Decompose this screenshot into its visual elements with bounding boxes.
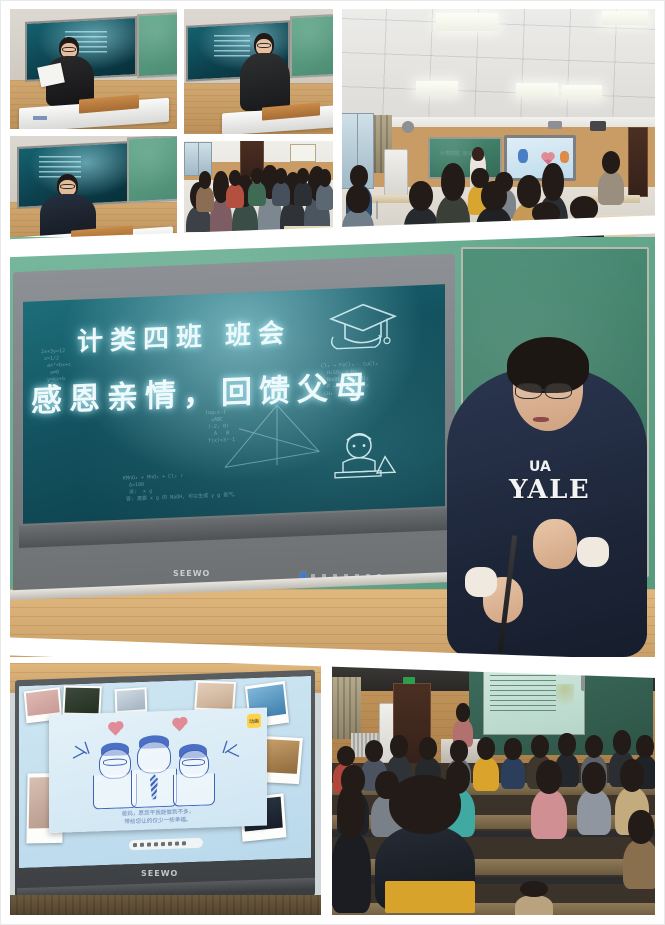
- p4-student: [272, 182, 290, 206]
- p5-ceiling-light: [416, 81, 458, 95]
- p3-slide-text: [39, 156, 81, 178]
- p4-student: [316, 184, 334, 210]
- p5-ceiling-light: [562, 85, 602, 99]
- p3-presenter-glasses: [60, 184, 75, 189]
- p5-wall-speaker: [590, 121, 606, 131]
- app-badge-label: 动画: [247, 714, 261, 728]
- presenter-glasses-left: [515, 383, 542, 399]
- presenter-right-cuff: [577, 537, 609, 567]
- toolbar-shape-icon[interactable]: [161, 842, 165, 846]
- p5-ceiling: [340, 9, 658, 121]
- p5-desk: [594, 215, 652, 223]
- p2-slide-text: [214, 35, 250, 57]
- p2-presenter-glasses: [257, 43, 271, 48]
- p8-student-foreground-chairback: [385, 881, 475, 913]
- toolbar-select-icon[interactable]: [154, 842, 158, 846]
- app-badge-icon: 动画: [247, 714, 261, 728]
- photo-main-presenter-at-smartboard[interactable]: 2x+3y=12 x=1/2 ax²+bx+c a≠0 y=kx+b log₂x…: [9, 237, 658, 657]
- exit-sign-icon: [403, 677, 415, 684]
- p4-window: [184, 142, 212, 176]
- p7-smartboard-screen: 爸妈，愿您平我能做到不多， 带给您让的仅少一些幸福。 动画: [19, 676, 311, 868]
- p5-slide-figure: [518, 149, 528, 163]
- photo-student-presenting-standing[interactable]: [182, 9, 335, 137]
- p8-student: [473, 757, 499, 791]
- p7-wood-floor: [9, 895, 322, 918]
- p1-chalkboard: [137, 12, 181, 79]
- main-smartboard-screen: 2x+3y=12 x=1/2 ax²+bx+c a≠0 y=kx+b log₂x…: [23, 284, 445, 524]
- board-title-line1: 计类四班 班会: [77, 313, 291, 359]
- p5-door: [628, 127, 648, 197]
- p5-ceiling-light: [436, 13, 498, 31]
- p5-slide-figure: [560, 151, 569, 163]
- photo-audience-taking-notes[interactable]: [182, 140, 335, 252]
- p1-podium-brand: [33, 116, 47, 120]
- toolbar-pen-icon[interactable]: [140, 843, 144, 847]
- photo-student-presenting-seated-view[interactable]: [9, 134, 181, 252]
- slide-card: 爸妈，愿您平我能做到不多， 带给您让的仅少一些幸福。 动画: [49, 707, 267, 833]
- p5-air-conditioner: [384, 149, 408, 199]
- photo-collage: 计类四班 班会: [0, 0, 665, 925]
- main-scene: 2x+3y=12 x=1/2 ax²+bx+c a≠0 y=kx+b log₂x…: [9, 237, 658, 657]
- toolbar-undo-icon[interactable]: [168, 842, 172, 846]
- p8-slide-illustration: [556, 684, 574, 712]
- student-reading-icon: [329, 426, 403, 491]
- p8-student: [577, 789, 611, 835]
- presenter-mouth: [533, 417, 549, 422]
- frame-edge-top: [1, 1, 665, 9]
- yale-hoodie-text: YALE: [509, 475, 590, 505]
- photo-student-presenting-with-paper[interactable]: [9, 9, 181, 132]
- toolbar-home-icon[interactable]: [133, 843, 137, 847]
- presenter-glasses-bridge: [541, 389, 547, 391]
- p1-presenter-glasses: [62, 47, 76, 52]
- p2-presenter-body: [240, 53, 290, 111]
- p2-chalkboard: [290, 14, 335, 79]
- p8-student: [331, 831, 371, 913]
- p5-desk-leg: [376, 201, 378, 219]
- p4-student: [248, 182, 266, 206]
- p8-hanging-microphone: [581, 669, 585, 691]
- toolbar-more-icon[interactable]: [182, 841, 186, 845]
- p7-smartboard-brand: SEEWO: [141, 869, 178, 878]
- p4-student: [294, 182, 312, 206]
- p8-slide-text-lines: [490, 675, 556, 715]
- p8-student: [531, 789, 567, 839]
- cartoon-sparkle-lines: [209, 738, 243, 767]
- heart-icon: [109, 723, 122, 736]
- p4-scene: [182, 140, 335, 252]
- p3-scene: [9, 134, 181, 252]
- smartboard-brand-label: SEEWO: [173, 569, 210, 578]
- p5-ceiling-mount: [402, 121, 414, 133]
- p4-desk: [284, 226, 335, 235]
- p7-scene: 爸妈，愿您平我能做到不多， 带给您让的仅少一些幸福。 动画: [9, 663, 322, 918]
- p8-student: [501, 757, 525, 789]
- p5-student: [598, 171, 624, 205]
- photo-cartoon-family-slide[interactable]: 爸妈，愿您平我能做到不多， 带给您让的仅少一些幸福。 动画: [9, 663, 322, 918]
- p4-student: [196, 186, 214, 212]
- presenter-right-hand: [533, 519, 577, 569]
- heart-icon: [173, 719, 186, 732]
- under-armour-logo: UA: [529, 459, 551, 475]
- p5-presenter-head: [472, 147, 484, 161]
- p2-scene: [182, 9, 335, 137]
- graduation-cap-icon: [323, 298, 401, 357]
- p5-ceiling-light: [602, 11, 648, 25]
- p5-ceiling-light: [516, 83, 558, 97]
- p8-projection-screen: [483, 669, 585, 735]
- presenter-left-cuff: [465, 567, 497, 597]
- presenter-glasses-right: [545, 383, 572, 399]
- photo-classroom-wide-shot[interactable]: 计类四班 班会: [340, 9, 658, 252]
- p3-chalkboard: [127, 135, 181, 204]
- p5-projector: [548, 121, 562, 129]
- p8-student: [515, 895, 553, 918]
- p5-scene: 计类四班 班会: [340, 9, 658, 252]
- p1-scene: [9, 9, 181, 132]
- chalk-notes-bottom: KMnO₄ + MnO₂ + Cl₂ ↑ Δ=100 设: x g 答: 需要 …: [123, 471, 238, 504]
- photo-lecture-hall-audience[interactable]: [331, 663, 658, 918]
- cartoon-sparkle-lines: [71, 739, 105, 768]
- p8-student: [623, 839, 658, 889]
- toolbar-redo-icon[interactable]: [175, 842, 179, 846]
- p8-curtain: [331, 677, 361, 739]
- toolbar-eraser-icon[interactable]: [147, 842, 151, 846]
- p5-chalkboard: [428, 137, 502, 179]
- p4-wall-poster: [290, 144, 316, 162]
- p4-student: [226, 184, 244, 208]
- p8-scene: [331, 663, 658, 918]
- cartoon-mother-body: [173, 773, 215, 806]
